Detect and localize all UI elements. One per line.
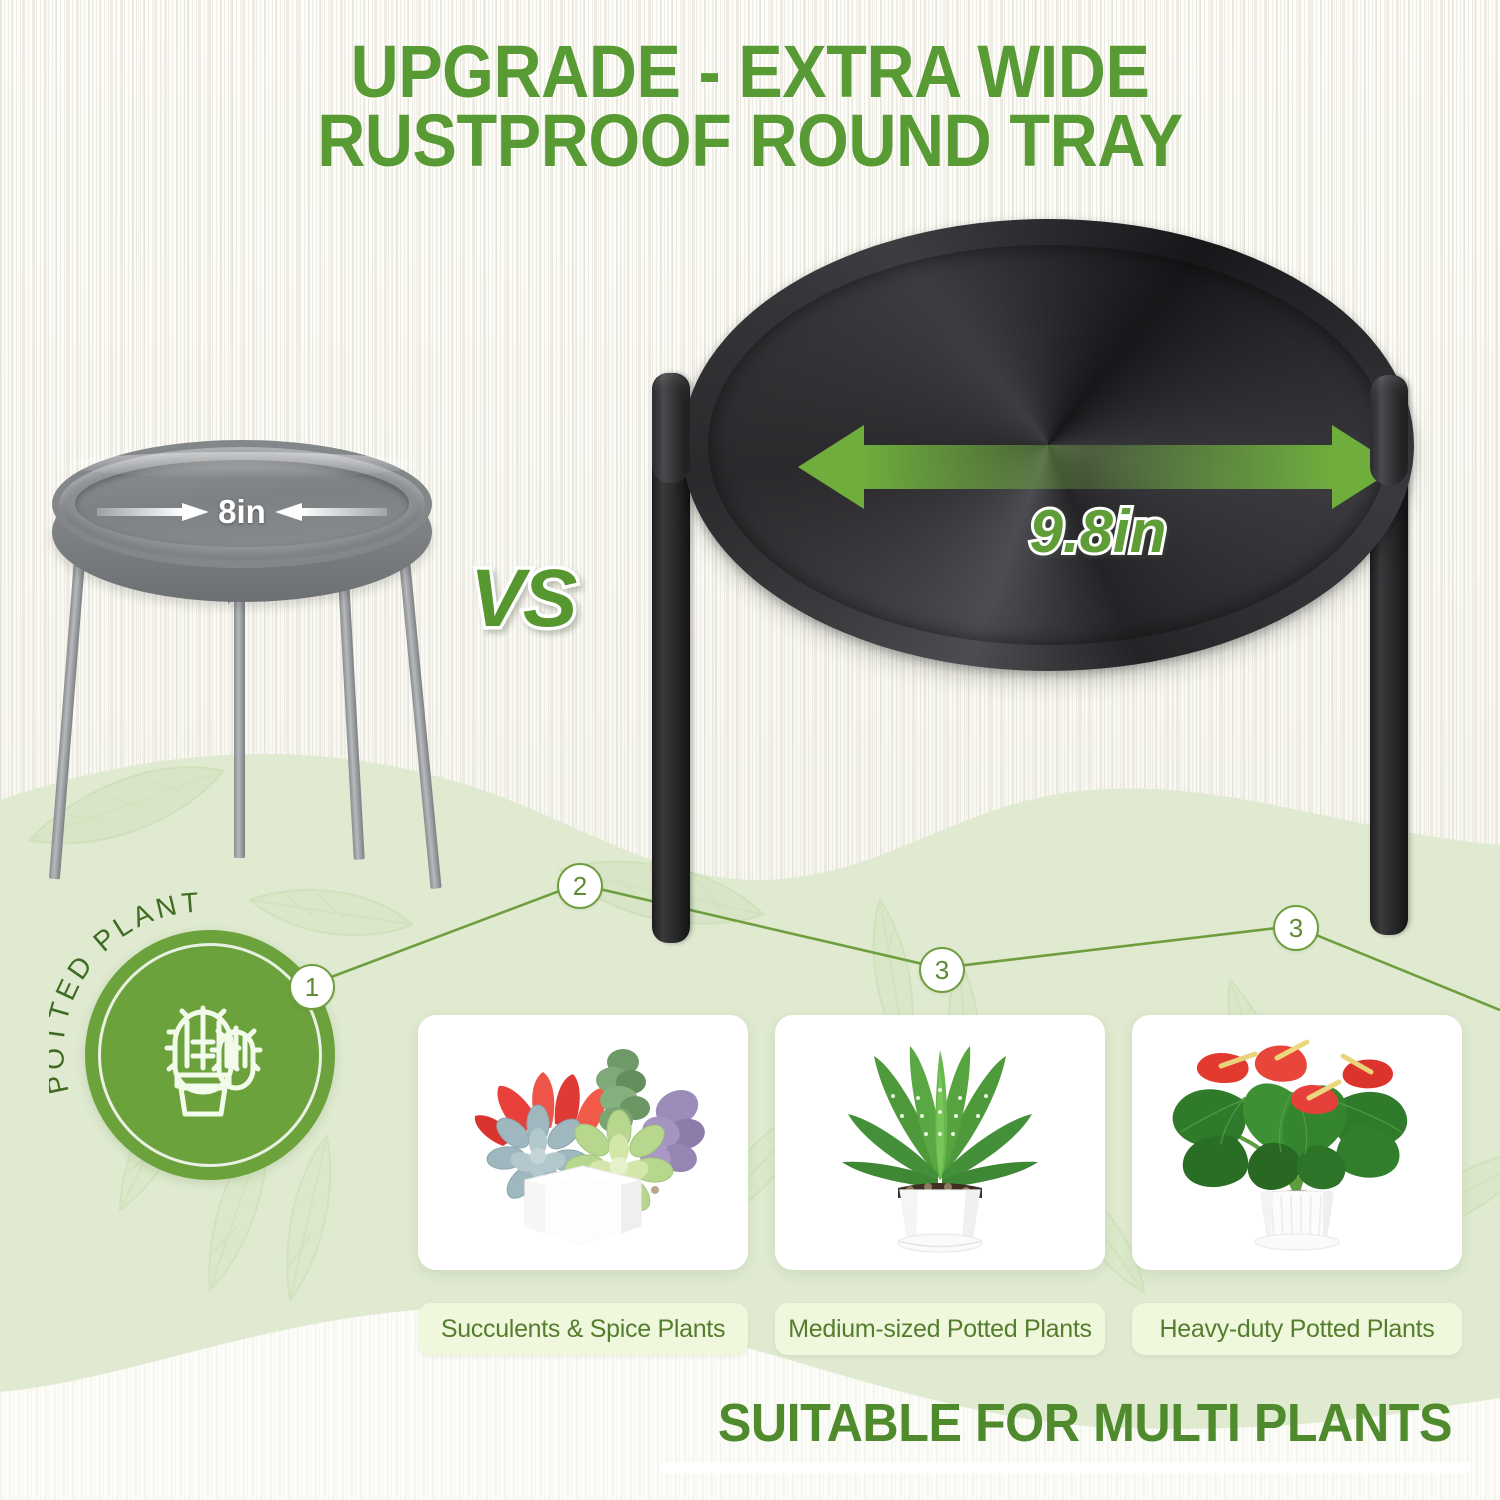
new-tray-measure: 9.8in: [798, 425, 1398, 509]
old-tray-highlight: [69, 452, 415, 478]
measure-arrow-right-icon: [97, 503, 209, 521]
title-line-2: RUSTPROOF ROUND TRAY: [317, 99, 1182, 182]
footer-banner: SUITABLE FOR MULTI PLANTS: [102, 1392, 1452, 1454]
old-stand-leg: [337, 560, 365, 860]
red-anthurium-in-white-ribbed-pot: [1147, 1028, 1447, 1258]
product-caption-2: Medium-sized Potted Plants: [775, 1303, 1105, 1355]
product-card-3[interactable]: [1132, 1015, 1462, 1270]
old-measure-label: 8in: [209, 493, 275, 531]
old-tray-measure: 8in: [92, 492, 392, 532]
old-stand-leg: [234, 558, 245, 858]
connector-node-1: 1: [289, 964, 335, 1010]
product-card-2[interactable]: [775, 1015, 1105, 1270]
page-title: UPGRADE - EXTRA WIDERUSTPROOF ROUND TRAY: [75, 38, 1425, 176]
connector-node-3b: 3: [1273, 905, 1319, 951]
old-product-stand: 8in: [52, 440, 432, 870]
connector-node-2: 2: [557, 863, 603, 909]
new-stand-leg-cap-right: [1370, 375, 1408, 485]
succulents-in-white-hexagon-pot: [433, 1028, 733, 1258]
aloe-in-white-round-pot: [790, 1028, 1090, 1258]
product-caption-1: Succulents & Spice Plants: [418, 1303, 748, 1355]
product-caption-3: Heavy-duty Potted Plants: [1132, 1303, 1462, 1355]
infographic-canvas: UPGRADE - EXTRA WIDERUSTPROOF ROUND TRAY…: [0, 0, 1500, 1500]
new-product-stand: 9.8in: [640, 225, 1440, 945]
measure-arrow-shaft: [860, 445, 1336, 489]
connector-node-3: 3: [919, 947, 965, 993]
cactus-pot-icon: [135, 980, 285, 1130]
measure-arrow-left-icon: [275, 503, 387, 521]
new-tray: 9.8in: [688, 225, 1408, 665]
footer-banner-underline: [660, 1462, 1470, 1473]
new-measure-label: 9.8in: [798, 497, 1398, 566]
old-stand-leg: [49, 560, 85, 880]
new-stand-leg-cap-left: [652, 373, 690, 483]
vs-label: VS: [470, 552, 575, 646]
product-card-1[interactable]: [418, 1015, 748, 1270]
